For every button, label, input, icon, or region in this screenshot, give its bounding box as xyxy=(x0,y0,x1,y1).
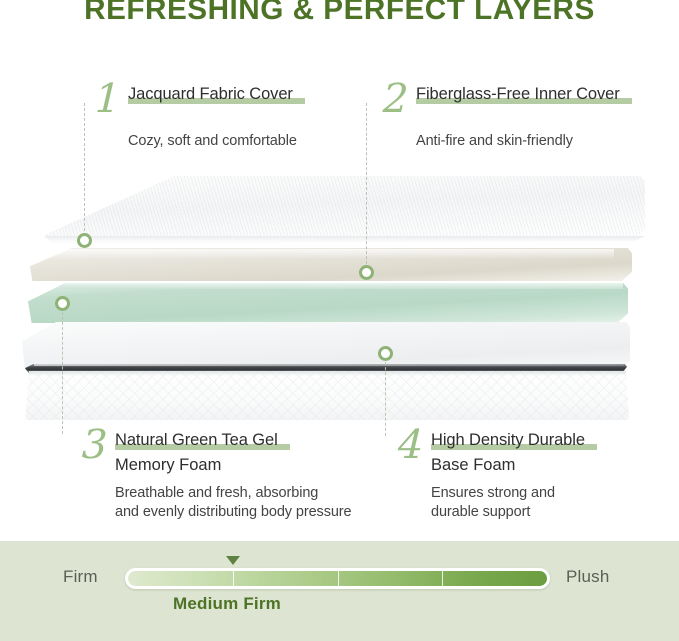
feature-number-4: 4 xyxy=(397,426,424,464)
jacquard-texture xyxy=(45,176,645,238)
firmness-track[interactable] xyxy=(128,571,547,586)
divider-highlight xyxy=(34,364,624,366)
feature-title-line2-3: Memory Foam xyxy=(115,455,221,476)
feature-subtitle-2: Anti-fire and skin-friendly xyxy=(416,132,573,152)
feature-title-2: Fiberglass-Free Inner Cover xyxy=(416,84,620,105)
base-cover-texture xyxy=(25,371,629,420)
feature-number-3: 3 xyxy=(81,426,108,464)
base-foam-face xyxy=(22,322,630,370)
firmness-tick-2 xyxy=(338,571,339,586)
feature-block-1: 1 Jacquard Fabric Cover Cozy, soft and c… xyxy=(95,80,385,160)
firmness-marker-triangle xyxy=(226,556,240,565)
leader-line-3 xyxy=(62,312,63,434)
feature-heading-wrap-4: High Density Durable xyxy=(431,430,679,451)
callout-ring-3 xyxy=(55,296,70,311)
firmness-tick-3 xyxy=(442,571,443,586)
feature-title-1: Jacquard Fabric Cover xyxy=(128,84,293,105)
feature-subtitle-3: Breathable and fresh, absorbing xyxy=(115,484,318,504)
feature-heading-wrap-2: Fiberglass-Free Inner Cover xyxy=(416,84,679,105)
mattress-layers-illustration xyxy=(0,176,679,426)
gel-foam-face xyxy=(28,283,628,323)
feature-heading-wrap-3: Natural Green Tea Gel xyxy=(115,430,385,451)
inner-cover-highlight xyxy=(48,249,614,258)
layer-jacquard-cover-edge xyxy=(45,236,645,244)
leader-line-4 xyxy=(385,362,386,436)
firmness-tick-1 xyxy=(233,571,234,586)
callout-ring-4 xyxy=(378,346,393,361)
feature-title-line2-4: Base Foam xyxy=(431,455,515,476)
firmness-panel xyxy=(0,541,679,641)
layer-high-density-base-foam xyxy=(22,322,630,370)
callout-ring-1 xyxy=(77,233,92,248)
callout-ring-2 xyxy=(359,265,374,280)
firmness-selected-label: Medium Firm xyxy=(173,594,281,614)
feature-block-2: 2 Fiberglass-Free Inner Cover Anti-fire … xyxy=(383,80,673,160)
leader-line-1 xyxy=(84,103,85,231)
firmness-right-label: Plush xyxy=(566,567,610,587)
feature-subtitle-line2-3: and evenly distributing body pressure xyxy=(115,503,352,523)
layer-jacquard-fabric-cover xyxy=(45,176,645,238)
feature-title-3: Natural Green Tea Gel xyxy=(115,430,278,451)
leader-line-2 xyxy=(366,103,367,264)
feature-block-4: 4 High Density Durable Base Foam Ensures… xyxy=(398,426,678,536)
feature-subtitle-line2-4: durable support xyxy=(431,503,530,523)
feature-subtitle-4: Ensures strong and xyxy=(431,484,555,504)
feature-heading-wrap-1: Jacquard Fabric Cover xyxy=(128,84,398,105)
layer-base-cover xyxy=(25,371,629,420)
feature-number-1: 1 xyxy=(94,80,121,118)
firmness-left-label: Firm xyxy=(63,567,98,587)
feature-block-3: 3 Natural Green Tea Gel Memory Foam Brea… xyxy=(82,426,382,536)
infographic-page: REFRESHING & PERFECT LAYERS xyxy=(0,0,679,641)
feature-title-4: High Density Durable xyxy=(431,430,585,451)
page-title: REFRESHING & PERFECT LAYERS xyxy=(3,0,675,27)
gel-foam-top-edge xyxy=(65,283,623,289)
feature-number-2: 2 xyxy=(382,80,409,118)
feature-subtitle-1: Cozy, soft and comfortable xyxy=(128,132,297,152)
layer-green-tea-gel-memory-foam xyxy=(28,283,628,323)
layer-fiberglass-free-inner-cover xyxy=(30,248,632,281)
firmness-slider[interactable] xyxy=(125,568,550,589)
